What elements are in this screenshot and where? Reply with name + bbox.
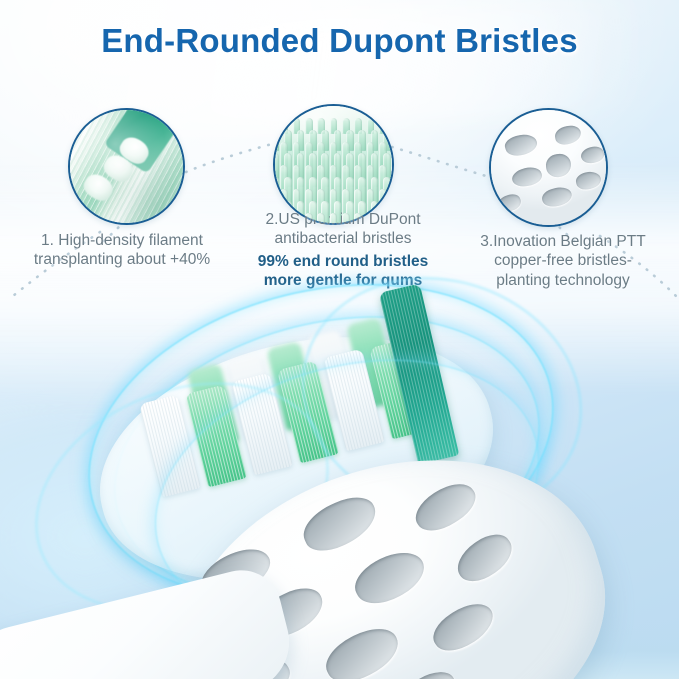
product-infographic: End-Rounded Dupont Bristles xyxy=(0,0,679,679)
feature-2-circle-image xyxy=(273,104,394,225)
dotted-line-circle2-to-circle3 xyxy=(392,147,486,176)
back-shell-hole-3 xyxy=(408,475,482,540)
back-shell-hole-2 xyxy=(296,488,384,559)
feature-1-line-1: 1. High-density filament xyxy=(41,232,203,249)
bristle-tuft-macro-icon xyxy=(70,110,183,223)
back-shell-hole-9 xyxy=(427,595,501,660)
feature-2-line-2: antibacterial bristles xyxy=(275,230,412,247)
page-title: End-Rounded Dupont Bristles xyxy=(0,22,679,60)
product-hero-image xyxy=(0,270,679,679)
feature-2-highlight-line-1: 99% end round bristles xyxy=(258,253,429,270)
brush-head-backplate-icon xyxy=(491,110,606,225)
feature-1-line-2: transplanting about +40% xyxy=(34,251,210,268)
back-shell-hole-5 xyxy=(348,541,432,613)
feature-3-line-1: 3.Inovation Belgian PTT xyxy=(480,233,645,250)
back-shell-hole-6 xyxy=(450,526,520,590)
feature-1-circle-image xyxy=(68,108,185,225)
back-shell-hole-11 xyxy=(393,663,462,679)
end-rounded-tips-icon xyxy=(275,106,392,223)
dotted-line-circle1-to-circle2 xyxy=(186,144,272,172)
feature-3-line-2: copper-free bristles- xyxy=(494,252,632,269)
feature-1-caption: 1. High-density filament transplanting a… xyxy=(6,231,238,270)
circle-shading-overlay xyxy=(70,110,183,223)
bristle-pin-field xyxy=(273,111,394,225)
feature-3-circle-image xyxy=(489,108,608,227)
back-shell-hole-8 xyxy=(318,619,406,679)
